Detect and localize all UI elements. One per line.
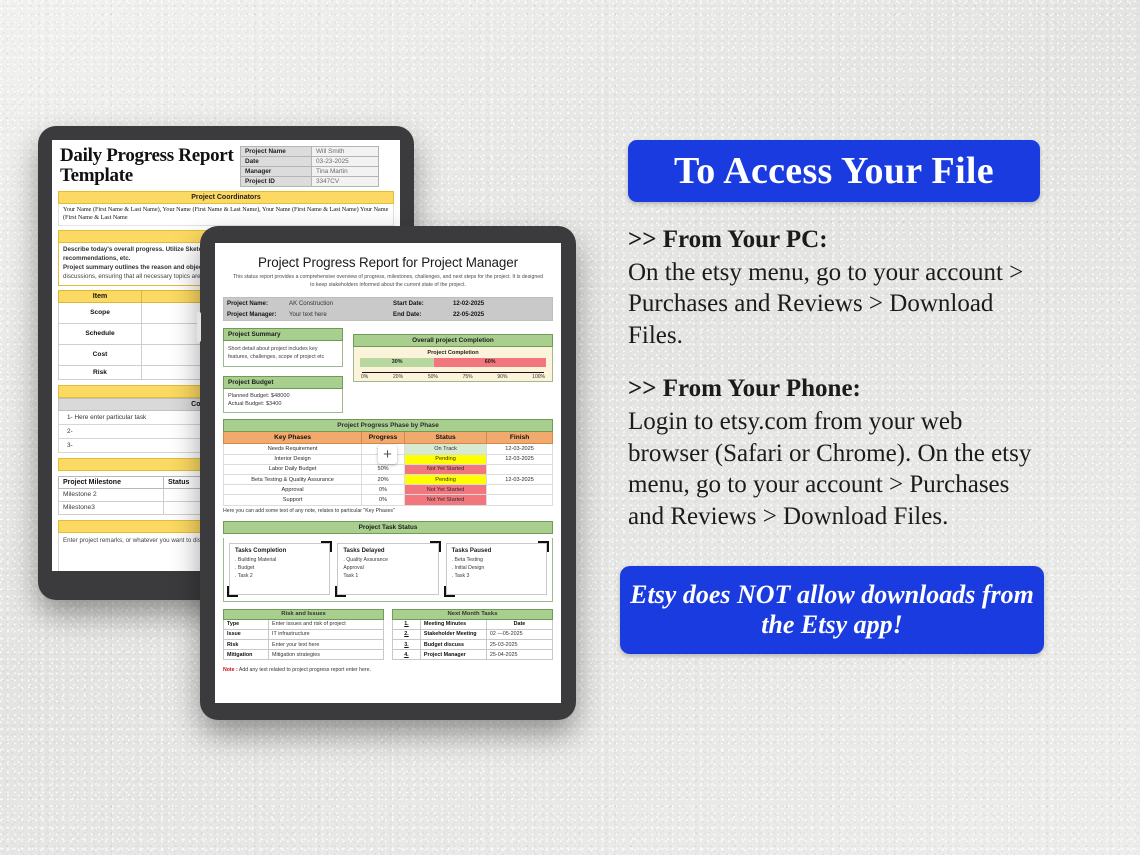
footer-warning-banner: Etsy does NOT allow downloads from the E… [620,566,1044,654]
bar-segment-remaining: 60% [434,358,546,367]
field-value: AK Construction [286,298,390,309]
table-row: Risk Enter your text here [224,639,384,649]
pc-instructions: >> From Your PC: On the etsy menu, go to… [628,226,1040,351]
field-label: Manager [241,167,312,177]
item-name: Schedule [59,323,142,344]
corner-bracket-icon [227,586,238,597]
field-value: Mitigation strategies [269,650,384,660]
document-header: Daily Progress Report Template Project N… [52,140,400,191]
corner-bracket-icon [335,586,346,597]
table-row: Labor Daily Budget 50% Not Yet Started [224,464,553,474]
add-plus-icon[interactable]: + [378,445,397,464]
chart-axis-line [362,372,544,373]
corner-bracket-icon [538,541,549,552]
status-badge: Pending [404,474,486,484]
info-keys-left: Project Name: Project Manager: [224,298,286,320]
coordinators-band: Project Coordinators [58,191,394,204]
row-number: 1. [393,619,421,629]
field-label: End Date: [390,309,450,320]
info-values-left: AK Construction Your text here [286,298,390,320]
status-badge: Not Yet Started [404,485,486,495]
phases-banner: Project Progress Phase by Phase [224,420,553,432]
card-title: Tasks Delayed [343,548,432,554]
table-row: Mitigation Mitigation strategies [224,650,384,660]
pc-heading: >> From Your PC: [628,226,1040,255]
column-header-status: Status [404,432,486,444]
table-row: Type Enter issues and risk of project [224,619,384,629]
page-title: Daily Progress Report Template [60,146,236,187]
task-date: 25-03-2025 [486,639,552,649]
field-value: Enter your text here [269,639,384,649]
summary-text: Short detail about project includes key … [223,341,343,367]
task-status-cards: Tasks Completion . Building Material . B… [223,538,553,602]
list-item: . Task 2 [235,572,324,580]
table-row: 4. Project Manager 25-04-2025 [393,650,553,660]
phase-progress: 20% [362,474,405,484]
phase-name: Approval [224,485,362,495]
table-banner-row: Project Progress Phase by Phase [224,420,553,432]
field-value: Tina Martin [312,167,379,177]
corner-bracket-icon [430,541,441,552]
table-header-row: Next Month Tasks [393,609,553,619]
list-item: Task 1 [343,572,432,580]
axis-tick: 50% [428,374,438,380]
field-label: Start Date: [390,298,450,309]
field-value: Enter issues and risk of project [269,619,384,629]
instructions-panel: To Access Your File >> From Your PC: On … [628,140,1040,532]
overall-completion-chart: Overall project Completion Project Compl… [353,334,553,382]
list-item: . Initial Design [452,564,541,572]
info-values-right: 12-02-2025 22-05-2025 [450,298,552,320]
task-name: Budget discuss [420,639,486,649]
table-row: Issue IT infrastructure [224,629,384,639]
phase-finish: 12-03-2025 [487,444,553,454]
next-month-tasks-section: Next Month Tasks 1. Meeting Minutes Date… [392,609,553,661]
risk-issues-table: Risk and Issues Type Enter issues and ri… [223,609,384,661]
list-item: . Building Material [235,556,324,564]
item-name: Cost [59,344,142,365]
table-row: Project ID 3347CV [241,177,379,187]
column-header-date: Date [486,619,552,629]
milestone-name: Milestone 2 [59,488,164,501]
tablet-screen-front: Project Progress Report for Project Mana… [215,243,561,703]
lower-tables: Risk and Issues Type Enter issues and ri… [223,609,553,661]
list-item: . Quality Assurance [343,556,432,564]
item-name: Risk [59,365,142,379]
next-heading: Next Month Tasks [393,609,553,619]
phase-finish: 12-03-2025 [487,454,553,464]
planned-budget: Planned Budget: $48000 [228,392,338,401]
phase-finish [487,495,553,505]
list-item: . Beta Testing [452,556,541,564]
phase-finish [487,485,553,495]
status-badge: On Track [404,444,486,454]
actual-budget: Actual Budget: $3400 [228,400,338,409]
table-row: 2. Stakeholder Meeting 02 —05-2025 [393,629,553,639]
pc-body: On the etsy menu, go to your account > P… [628,257,1040,352]
row-number: 3. [393,639,421,649]
field-label: Project ID [241,177,312,187]
field-label: Type [224,619,269,629]
note-label: Note : [223,667,238,673]
field-value: Will Smith [312,147,379,157]
card-title: Tasks Paused [452,548,541,554]
table-row: 3. Budget discuss 25-03-2025 [393,639,553,649]
field-value: 12-02-2025 [450,298,552,309]
task-card-completion: Tasks Completion . Building Material . B… [229,543,330,595]
card-title: Tasks Completion [235,548,324,554]
field-value: 3347CV [312,177,379,187]
phase-name: Support [224,495,362,505]
phase-finish [487,464,553,474]
task-card-paused: Tasks Paused . Beta Testing . Initial De… [446,543,547,595]
column-header-task: Meeting Minutes [420,619,486,629]
page-title: Project Progress Report for Project Mana… [223,255,553,270]
task-name: Stakeholder Meeting [420,629,486,639]
list-item: Approval [343,564,432,572]
title-banner: To Access Your File [628,140,1040,202]
axis-tick: 75% [463,374,473,380]
risk-heading: Risk and Issues [224,609,384,619]
field-value: 22-05-2025 [450,309,552,320]
info-keys-right: Start Date: End Date: [390,298,450,320]
table-row: Beta Testing & Quality Assurance 20% Pen… [224,474,553,484]
field-label: Project Name [241,147,312,157]
completion-bar-chart: Project Completion 30% 60% 0% 20% 50% 75… [353,347,553,382]
table-row: Project Name Will Smith [241,147,379,157]
task-date: 02 —05-2025 [486,629,552,639]
completion-heading: Overall project Completion [353,334,553,347]
list-item: . Budget [235,564,324,572]
field-value: IT infrastructure [269,629,384,639]
volume-button[interactable] [197,312,201,342]
table-row: Support 0% Not Yet Started [224,495,553,505]
field-label: Mitigation [224,650,269,660]
next-month-tasks-table: Next Month Tasks 1. Meeting Minutes Date… [392,609,553,661]
table-row: Approval 0% Not Yet Started [224,485,553,495]
coordinators-text: Your Name (First Name & Last Name), Your… [58,204,394,226]
table-row: 1. Meeting Minutes Date [393,619,553,629]
field-value: 03-23-2025 [312,157,379,167]
task-date: 25-04-2025 [486,650,552,660]
project-info-row: Project Name: Project Manager: AK Constr… [223,297,553,321]
risk-issues-section: Risk and Issues Type Enter issues and ri… [223,609,384,661]
bar-segment-completed: 30% [360,358,434,367]
document-note: Note : Add any text related to project p… [223,667,553,673]
phases-note: Here you can add some text of any note, … [223,508,553,514]
budget-heading: Project Budget [223,376,343,389]
task-status-heading: Project Task Status [223,521,553,534]
note-text: Add any text related to project progress… [238,667,371,673]
field-label: Date [241,157,312,167]
table-header-row: Key Phases Progress Status Finish [224,432,553,444]
row-number: 4. [393,650,421,660]
axis-tick: 100% [532,374,545,380]
field-value: Your text here [286,309,390,320]
phase-finish: 12-03-2025 [487,474,553,484]
phase-name: Interior Design [224,454,362,464]
project-info-table: Project Name Will Smith Date 03-23-2025 … [240,146,379,187]
field-label: Project Manager: [224,309,286,320]
column-header-finish: Finish [487,432,553,444]
column-header-key-phases: Key Phases [224,432,362,444]
tablet-device-front: Project Progress Report for Project Mana… [200,226,576,720]
summary-budget-column: Project Summary Short detail about proje… [223,328,343,414]
task-card-delayed: Tasks Delayed . Quality Assurance Approv… [337,543,438,595]
chart-axis-ticks: 0% 20% 50% 75% 90% 100% [360,374,546,380]
page-subtitle: This status report provides a comprehens… [233,274,543,290]
task-name: Project Manager [420,650,486,660]
axis-tick: 90% [497,374,507,380]
corner-bracket-icon [321,541,332,552]
phone-instructions: >> From Your Phone: Login to etsy.com fr… [628,375,1040,532]
table-header-row: Risk and Issues [224,609,384,619]
column-header-item: Item [59,290,142,302]
phase-progress: 50% [362,464,405,474]
field-label: Issue [224,629,269,639]
table-row: Date 03-23-2025 [241,157,379,167]
field-label: Project Name: [224,298,286,309]
phase-progress: 0% [362,495,405,505]
chart-title: Project Completion [360,350,546,356]
phase-name: Beta Testing & Quality Assurance [224,474,362,484]
axis-tick: 0% [361,374,368,380]
status-badge: Pending [404,454,486,464]
column-header-progress: Progress [362,432,405,444]
table-row: Manager Tina Martin [241,167,379,177]
corner-bracket-icon [444,586,455,597]
item-name: Scope [59,302,142,323]
row-number: 2. [393,629,421,639]
status-badge: Not Yet Started [404,495,486,505]
phone-body: Login to etsy.com from your web browser … [628,406,1040,532]
milestone-name: Milestone3 [59,501,164,514]
field-label: Risk [224,639,269,649]
summary-heading: Project Summary [223,328,343,341]
axis-tick: 20% [393,374,403,380]
status-badge: Not Yet Started [404,464,486,474]
list-item: . Task 3 [452,572,541,580]
phase-name: Needs Requirement [224,444,362,454]
budget-values: Planned Budget: $48000 Actual Budget: $3… [223,389,343,414]
phone-heading: >> From Your Phone: [628,375,1040,404]
phase-name: Labor Daily Budget [224,464,362,474]
stacked-bar: 30% 60% [360,358,546,367]
phase-progress: 0% [362,485,405,495]
column-header-milestone: Project Milestone [59,476,164,488]
